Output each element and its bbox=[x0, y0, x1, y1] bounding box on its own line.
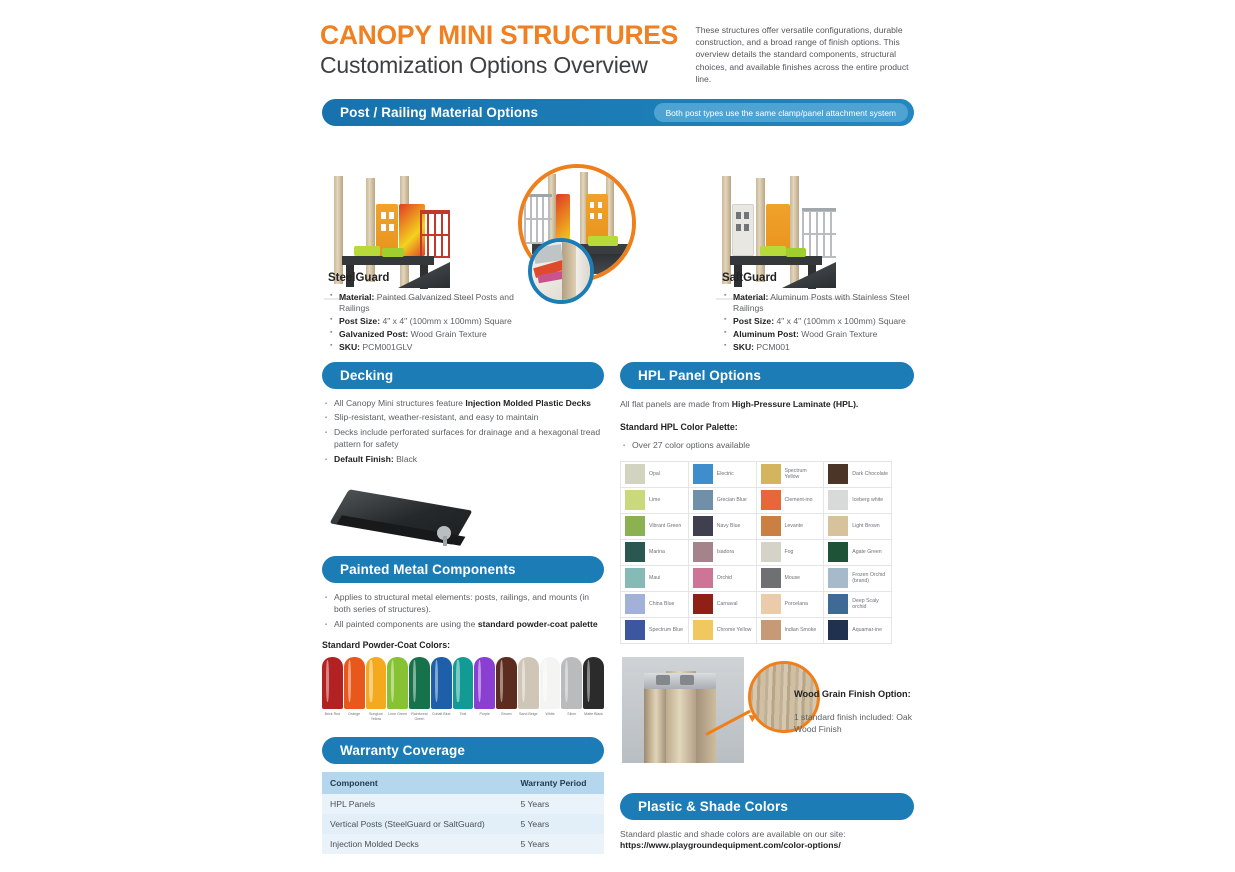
hpl-swatch bbox=[693, 620, 713, 640]
wood-grain-text: Wood Grain Finish Option: 1 standard fin… bbox=[794, 689, 914, 736]
powder-coat-swatches bbox=[322, 657, 604, 709]
hpl-swatch bbox=[828, 568, 848, 588]
wood-grain-section: Wood Grain Finish Option: 1 standard fin… bbox=[622, 657, 916, 777]
color-options-link[interactable]: https://www.playgroundequipment.com/colo… bbox=[620, 840, 914, 850]
hpl-swatch bbox=[625, 620, 645, 640]
hpl-swatch-label: Orchid bbox=[717, 575, 732, 582]
hpl-color-cell[interactable]: Navy Blue bbox=[689, 514, 757, 540]
hpl-swatch-label: Electric bbox=[717, 471, 734, 478]
cell-component: HPL Panels bbox=[322, 794, 512, 814]
hpl-swatch-label: Marina bbox=[649, 549, 665, 556]
powder-coat-chip-label: Orange bbox=[344, 712, 365, 721]
hpl-swatch-label: Lime bbox=[649, 497, 660, 504]
plastic-shade-bar: Plastic & Shade Colors bbox=[620, 793, 914, 820]
hpl-color-cell[interactable]: Maui bbox=[621, 566, 689, 592]
hpl-color-cell[interactable]: Lime bbox=[621, 488, 689, 514]
hpl-swatch-label: Isadora bbox=[717, 549, 734, 556]
header-intro-text: These structures offer versatile configu… bbox=[689, 22, 917, 85]
list-item: Applies to structural metal elements: po… bbox=[334, 591, 604, 616]
post-railing-bar: Post / Railing Material Options Both pos… bbox=[322, 99, 914, 126]
hpl-swatch bbox=[625, 490, 645, 510]
hpl-bullets: Over 27 color options available bbox=[620, 439, 914, 451]
plastic-shade-line1: Standard plastic and shade colors are av… bbox=[620, 828, 914, 840]
saltguard-list: Material: Aluminum Posts with Stainless … bbox=[722, 292, 922, 354]
hpl-swatch-label: Aquamar-ine bbox=[852, 627, 882, 634]
hpl-swatch-label: Vibrant Green bbox=[649, 523, 681, 530]
hpl-color-cell[interactable]: Dark Chocolate bbox=[824, 462, 892, 488]
painted-metal-bullets: Applies to structural metal elements: po… bbox=[322, 591, 604, 630]
painted-metal-section: Painted Metal Components Applies to stru… bbox=[322, 556, 604, 721]
list-item: Post Size: 4" x 4" (100mm x 100mm) Squar… bbox=[339, 316, 538, 328]
decking-bullets: All Canopy Mini structures feature Injec… bbox=[322, 397, 604, 465]
powder-coat-chip[interactable] bbox=[431, 657, 452, 709]
post-illustrations bbox=[322, 138, 914, 288]
list-item: Material: Painted Galvanized Steel Posts… bbox=[339, 292, 538, 315]
hpl-color-cell[interactable]: Mouse bbox=[757, 566, 825, 592]
hpl-swatch bbox=[625, 594, 645, 614]
powder-coat-chip-label: Silver bbox=[561, 712, 582, 721]
hpl-swatch-label: Deep Scaly orchid bbox=[852, 598, 888, 611]
decking-section: Decking All Canopy Mini structures featu… bbox=[322, 362, 604, 467]
decking-bar-title: Decking bbox=[340, 368, 393, 383]
cell-component: Injection Molded Decks bbox=[322, 834, 512, 854]
hpl-swatch bbox=[828, 490, 848, 510]
powder-coat-chip[interactable] bbox=[387, 657, 408, 709]
powder-coat-chip-label: Purple bbox=[474, 712, 495, 721]
hpl-swatch-label: Spectrum Blue bbox=[649, 627, 683, 634]
powder-coat-chip-label: Sunglow Yellow bbox=[366, 712, 387, 721]
cell-component: Vertical Posts (SteelGuard or SaltGuard) bbox=[322, 814, 512, 834]
page-header: CANOPY MINI STRUCTURES Customization Opt… bbox=[320, 22, 920, 85]
hpl-swatch bbox=[625, 516, 645, 536]
powder-coat-chip[interactable] bbox=[474, 657, 495, 709]
hpl-swatch bbox=[693, 464, 713, 484]
steelguard-name: SteelGuard bbox=[328, 271, 538, 287]
list-item: All painted components are using the sta… bbox=[334, 618, 604, 630]
hpl-color-cell[interactable]: Levante bbox=[757, 514, 825, 540]
header-titles: CANOPY MINI STRUCTURES Customization Opt… bbox=[320, 22, 685, 79]
hpl-bar: HPL Panel Options bbox=[620, 362, 914, 389]
warranty-table-body: HPL Panels5 YearsVertical Posts (SteelGu… bbox=[322, 794, 604, 854]
powder-coat-chip[interactable] bbox=[453, 657, 474, 709]
hpl-palette-label: Standard HPL Color Palette: bbox=[620, 422, 914, 432]
hpl-color-cell[interactable]: Iceberg white bbox=[824, 488, 892, 514]
powder-coat-chip[interactable] bbox=[366, 657, 387, 709]
plastic-shade-section: Plastic & Shade Colors Standard plastic … bbox=[620, 793, 914, 850]
hpl-color-cell[interactable]: Carnaval bbox=[689, 592, 757, 618]
powder-coat-chip-label: Brown bbox=[496, 712, 517, 721]
hpl-swatch-label: Clement-ino bbox=[785, 497, 813, 504]
powder-coat-chip[interactable] bbox=[344, 657, 365, 709]
powder-coat-chip[interactable] bbox=[322, 657, 343, 709]
powder-coat-chip[interactable] bbox=[561, 657, 582, 709]
hpl-swatch-label: Levante bbox=[785, 523, 803, 530]
wood-grain-body: 1 standard finish included: Oak Wood Fin… bbox=[794, 711, 914, 736]
list-item: Over 27 color options available bbox=[632, 439, 914, 451]
steelguard-spec: SteelGuard Material: Painted Galvanized … bbox=[328, 271, 538, 355]
hpl-intro: All flat panels are made from High-Press… bbox=[620, 398, 914, 410]
table-row: HPL Panels5 Years bbox=[322, 794, 604, 814]
hpl-swatch bbox=[761, 490, 781, 510]
table-row: Vertical Posts (SteelGuard or SaltGuard)… bbox=[322, 814, 604, 834]
hpl-swatch bbox=[761, 542, 781, 562]
hpl-color-cell[interactable]: Spectrum Yellow bbox=[757, 462, 825, 488]
hpl-swatch bbox=[828, 464, 848, 484]
hpl-swatch-label: Iceberg white bbox=[852, 497, 883, 504]
powder-coat-chip-label: Cobalt Blue bbox=[431, 712, 452, 721]
warranty-bar-title: Warranty Coverage bbox=[340, 743, 465, 758]
hpl-swatch bbox=[693, 516, 713, 536]
warranty-bar: Warranty Coverage bbox=[322, 737, 604, 764]
hpl-color-cell[interactable]: Light Brown bbox=[824, 514, 892, 540]
hpl-swatch bbox=[761, 620, 781, 640]
hpl-color-cell[interactable]: Frozen Orchid (brand) bbox=[824, 566, 892, 592]
hpl-swatch bbox=[693, 542, 713, 562]
list-item: All Canopy Mini structures feature Injec… bbox=[334, 397, 604, 409]
saltguard-name: SaltGuard bbox=[722, 271, 922, 287]
powder-coat-chip[interactable] bbox=[540, 657, 561, 709]
page-title: CANOPY MINI STRUCTURES bbox=[320, 22, 685, 50]
painted-metal-bar-title: Painted Metal Components bbox=[340, 562, 516, 577]
hpl-swatch bbox=[828, 516, 848, 536]
hpl-swatch bbox=[761, 594, 781, 614]
hpl-color-cell[interactable]: Opal bbox=[621, 462, 689, 488]
hpl-color-cell[interactable]: Aquamar-ine bbox=[824, 618, 892, 644]
infographic-page: CANOPY MINI STRUCTURES Customization Opt… bbox=[0, 0, 1235, 872]
hpl-swatch-label: Maui bbox=[649, 575, 660, 582]
column-header-component: Component bbox=[322, 772, 512, 794]
list-item: Default Finish: Black bbox=[334, 453, 604, 465]
hpl-swatch bbox=[761, 464, 781, 484]
hpl-color-cell[interactable]: Porcelana bbox=[757, 592, 825, 618]
powder-coat-chip-label: Brick Red bbox=[322, 712, 343, 721]
hpl-section: HPL Panel Options All flat panels are ma… bbox=[620, 362, 914, 644]
hpl-swatch bbox=[625, 568, 645, 588]
hpl-color-cell[interactable]: Grecian Blue bbox=[689, 488, 757, 514]
hpl-bar-title: HPL Panel Options bbox=[638, 368, 761, 383]
hpl-color-cell[interactable]: Clement-ino bbox=[757, 488, 825, 514]
hpl-color-cell[interactable]: Deep Scaly orchid bbox=[824, 592, 892, 618]
wood-grain-heading: Wood Grain Finish Option: bbox=[794, 689, 914, 701]
warranty-section: Warranty Coverage Component Warranty Per… bbox=[322, 737, 604, 854]
list-item: SKU: PCM001 bbox=[733, 342, 922, 354]
hpl-swatch-label: Indian Smoke bbox=[785, 627, 817, 634]
column-header-period: Warranty Period bbox=[512, 772, 604, 794]
hpl-swatch bbox=[828, 594, 848, 614]
warranty-table: Component Warranty Period HPL Panels5 Ye… bbox=[322, 772, 604, 854]
powder-coat-chip-label: Matte Black bbox=[583, 712, 604, 721]
hpl-color-cell[interactable]: Agate Green bbox=[824, 540, 892, 566]
post-railing-section: Post / Railing Material Options Both pos… bbox=[322, 99, 914, 288]
hpl-swatch-label: Carnaval bbox=[717, 601, 738, 608]
powder-coat-chip[interactable] bbox=[409, 657, 430, 709]
list-item: SKU: PCM001GLV bbox=[339, 342, 538, 354]
painted-metal-bar: Painted Metal Components bbox=[322, 556, 604, 583]
wood-post-photo bbox=[622, 657, 744, 763]
hpl-swatch bbox=[693, 594, 713, 614]
powder-coat-chip-label: Sand Beige bbox=[518, 712, 539, 721]
powder-coat-chip-label: White bbox=[540, 712, 561, 721]
list-item: Decks include perforated surfaces for dr… bbox=[334, 426, 604, 451]
hpl-swatch-label: Navy Blue bbox=[717, 523, 741, 530]
powder-coat-label: Standard Powder-Coat Colors: bbox=[322, 640, 604, 650]
hpl-swatch bbox=[828, 542, 848, 562]
hpl-swatch-label: Chrome Yellow bbox=[717, 627, 752, 634]
cell-warranty-period: 5 Years bbox=[512, 814, 604, 834]
powder-coat-chip[interactable] bbox=[496, 657, 517, 709]
list-item: Material: Aluminum Posts with Stainless … bbox=[733, 292, 922, 315]
hpl-swatch-label: Dark Chocolate bbox=[852, 471, 888, 478]
list-item: Aluminum Post: Wood Grain Texture bbox=[733, 329, 922, 341]
hpl-color-grid: OpalElectricSpectrum YellowDark Chocolat… bbox=[620, 461, 892, 644]
saltguard-spec: SaltGuard Material: Aluminum Posts with … bbox=[722, 271, 922, 355]
hpl-swatch bbox=[625, 542, 645, 562]
hpl-color-cell[interactable]: Orchid bbox=[689, 566, 757, 592]
hpl-swatch-label: China Blue bbox=[649, 601, 674, 608]
powder-coat-chip-label: Rainforest Green bbox=[409, 712, 430, 721]
table-header-row: Component Warranty Period bbox=[322, 772, 604, 794]
powder-coat-labels: Brick RedOrangeSunglow YellowLime GreenR… bbox=[322, 712, 604, 721]
hpl-color-cell[interactable]: Chrome Yellow bbox=[689, 618, 757, 644]
hpl-swatch-label: Grecian Blue bbox=[717, 497, 747, 504]
list-item: Galvanized Post: Wood Grain Texture bbox=[339, 329, 538, 341]
hpl-swatch-label: Frozen Orchid (brand) bbox=[852, 572, 888, 585]
plastic-shade-bar-title: Plastic & Shade Colors bbox=[638, 799, 788, 814]
hpl-color-cell[interactable]: Vibrant Green bbox=[621, 514, 689, 540]
hpl-color-cell[interactable]: China Blue bbox=[621, 592, 689, 618]
page-subtitle: Customization Options Overview bbox=[320, 52, 685, 79]
hpl-swatch bbox=[625, 464, 645, 484]
list-item: Slip-resistant, weather-resistant, and e… bbox=[334, 411, 604, 423]
hpl-color-cell[interactable]: Fog bbox=[757, 540, 825, 566]
hpl-swatch bbox=[693, 568, 713, 588]
post-railing-bar-title: Post / Railing Material Options bbox=[340, 105, 538, 120]
powder-coat-chip[interactable] bbox=[583, 657, 604, 709]
hpl-color-cell[interactable]: Spectrum Blue bbox=[621, 618, 689, 644]
cell-warranty-period: 5 Years bbox=[512, 794, 604, 814]
hpl-swatch-label: Mouse bbox=[785, 575, 801, 582]
hpl-color-cell[interactable]: Indian Smoke bbox=[757, 618, 825, 644]
hpl-swatch-label: Porcelana bbox=[785, 601, 808, 608]
hpl-swatch-label: Spectrum Yellow bbox=[785, 468, 821, 481]
hpl-swatch-label: Fog bbox=[785, 549, 794, 556]
hpl-swatch bbox=[828, 620, 848, 640]
decking-bar: Decking bbox=[322, 362, 604, 389]
powder-coat-chip-label: Teal bbox=[453, 712, 474, 721]
hpl-swatch bbox=[761, 568, 781, 588]
cell-warranty-period: 5 Years bbox=[512, 834, 604, 854]
powder-coat-chip-label: Lime Green bbox=[387, 712, 408, 721]
hpl-swatch-label: Opal bbox=[649, 471, 660, 478]
hpl-swatch bbox=[693, 490, 713, 510]
post-railing-note-pill: Both post types use the same clamp/panel… bbox=[654, 103, 908, 122]
powder-coat-chip[interactable] bbox=[518, 657, 539, 709]
hpl-color-cell[interactable]: Marina bbox=[621, 540, 689, 566]
hpl-swatch bbox=[761, 516, 781, 536]
deck-illustration bbox=[325, 492, 495, 554]
steelguard-list: Material: Painted Galvanized Steel Posts… bbox=[328, 292, 538, 354]
hpl-color-cell[interactable]: Electric bbox=[689, 462, 757, 488]
hpl-swatch-label: Agate Green bbox=[852, 549, 881, 556]
hpl-color-cell[interactable]: Isadora bbox=[689, 540, 757, 566]
list-item: Post Size: 4" x 4" (100mm x 100mm) Squar… bbox=[733, 316, 922, 328]
table-row: Injection Molded Decks5 Years bbox=[322, 834, 604, 854]
hpl-swatch-label: Light Brown bbox=[852, 523, 879, 530]
